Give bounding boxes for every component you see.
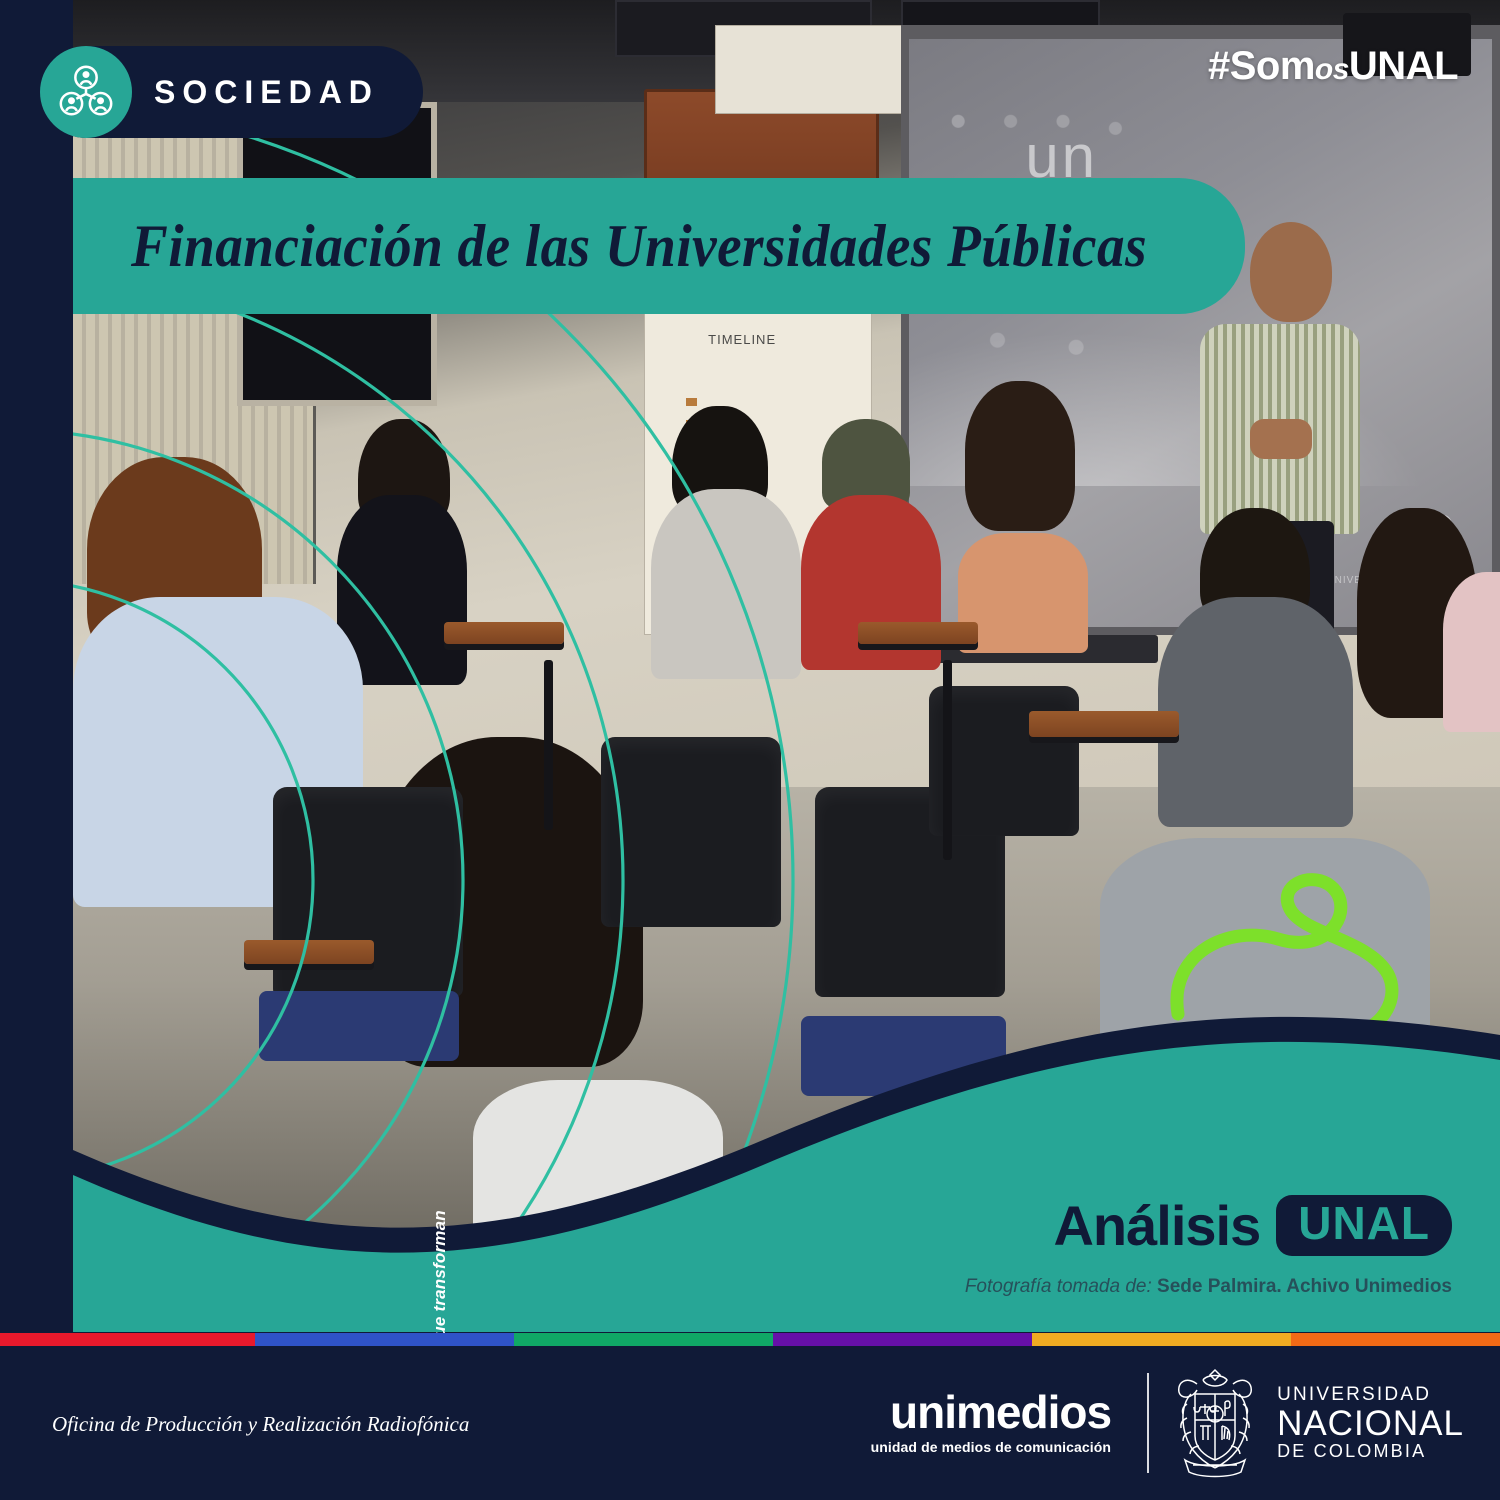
colorbar-segment-red	[0, 1333, 255, 1346]
footer-office-text: Oficina de Producción y Realización Radi…	[52, 1412, 469, 1437]
unimedios-name: unimedios	[890, 1391, 1111, 1433]
colorbar-segment-amber	[1032, 1333, 1291, 1346]
somos-unal-hashtag: #SomosUNAL	[1208, 44, 1458, 89]
credit-source: Sede Palmira. Achivo Unimedios	[1157, 1276, 1452, 1297]
color-bar	[0, 1333, 1500, 1346]
page-title: Financiación de las Universidades Públic…	[131, 212, 1147, 281]
unal-badge: UNAL	[1276, 1195, 1452, 1255]
colorbar-segment-purple	[773, 1333, 1032, 1346]
footer: Oficina de Producción y Realización Radi…	[0, 1346, 1500, 1500]
title-banner: Financiación de las Universidades Públic…	[73, 178, 1245, 314]
category-label: SOCIEDAD	[154, 74, 379, 111]
analisis-word: Análisis	[1053, 1193, 1260, 1258]
colorbar-segment-orange	[1291, 1333, 1500, 1346]
unimedios-logo: unimedios unidad de medios de comunicaci…	[871, 1391, 1111, 1454]
people-group-icon	[40, 46, 132, 138]
hashtag-suffix: UNAL	[1349, 44, 1458, 88]
unimedios-subtitle: unidad de medios de comunicación	[871, 1439, 1111, 1455]
hashtag-prefix: #Som	[1208, 44, 1315, 88]
photo-credit: Fotografía tomada de: Sede Palmira. Achi…	[965, 1276, 1452, 1298]
poster-root: un un UNIVERSIDAD NACIONAL	[0, 0, 1500, 1500]
credit-prefix: Fotografía tomada de:	[965, 1276, 1157, 1297]
unal-coat-of-arms-icon	[1167, 1364, 1263, 1482]
university-line-3: DE COLOMBIA	[1277, 1442, 1464, 1461]
hashtag-middle: os	[1315, 53, 1349, 86]
university-line-1: UNIVERSIDAD	[1277, 1385, 1464, 1405]
footer-divider	[1147, 1373, 1149, 1473]
colorbar-segment-green	[514, 1333, 773, 1346]
left-sidebar: UNAL / unimedios / Oficina de Proyectos …	[0, 0, 73, 1330]
analisis-unal-logo: Análisis UNAL	[1053, 1193, 1452, 1258]
colorbar-segment-blue	[255, 1333, 514, 1346]
category-badge[interactable]: SOCIEDAD	[40, 46, 423, 138]
university-line-2: NACIONAL	[1277, 1405, 1464, 1442]
